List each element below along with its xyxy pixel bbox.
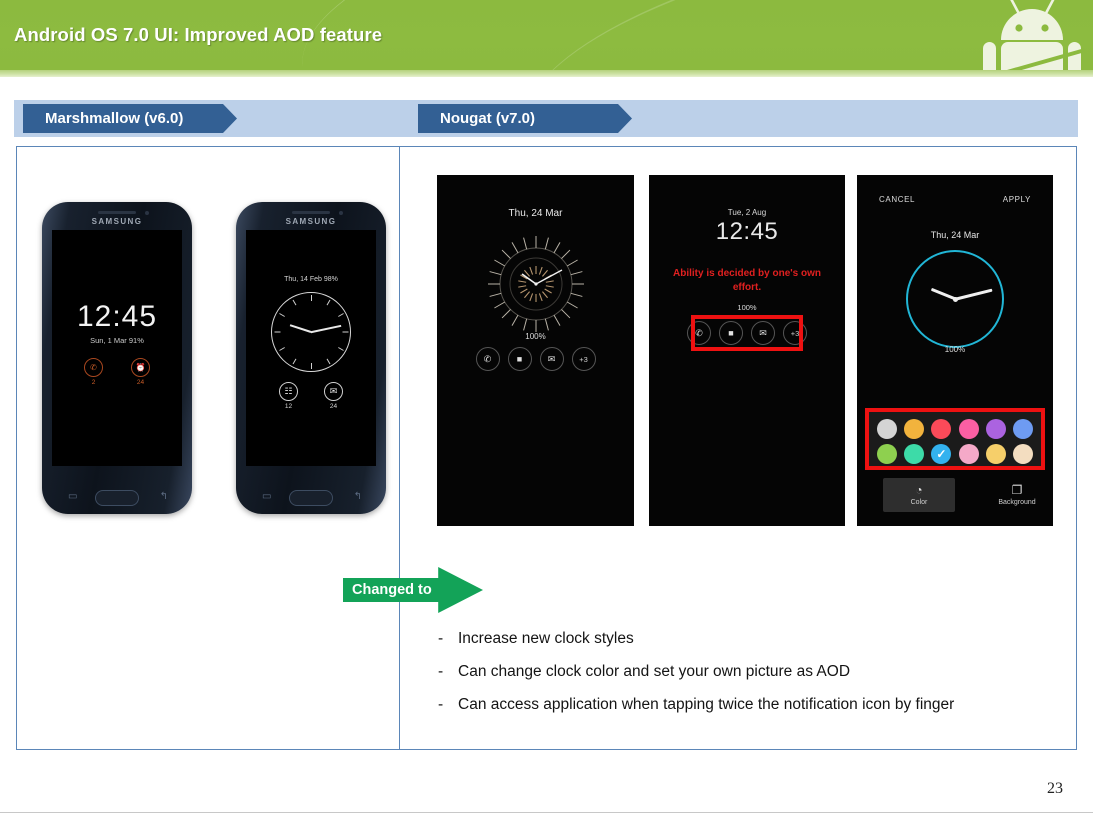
aod-battery-status: 100% [649,303,845,312]
lockscreen-date-battery: Sun, 1 Mar 91% [52,336,182,345]
image-icon: ❐ [981,483,1053,497]
feature-bullet-list: - Increase new clock styles - Can change… [438,630,1058,729]
phone-camera-icon [339,211,343,215]
header-swoosh-decoration [288,0,1093,70]
bullet-dash: - [438,630,458,648]
bullet-item: - Can access application when tapping tw… [438,696,1058,714]
notification-count: 24 [324,403,343,410]
marshmallow-phone-2: SAMSUNG Thu, 14 Feb 98% ☷ 12 ✉ [236,202,386,514]
alarm-icon: ⏰ [131,358,150,377]
lockscreen-notifications: ✆ 2 ⏰ 24 [52,358,182,386]
phone-1-screen: 12:45 Sun, 1 Mar 91% ✆ 2 ⏰ 24 [52,230,182,466]
color-swatch-selected[interactable]: ✓ [931,444,951,464]
marshmallow-phone-1: SAMSUNG 12:45 Sun, 1 Mar 91% ✆ 2 ⏰ 24 ▭ … [42,202,192,514]
analog-clock-icon [271,292,351,372]
color-swatch-row-1 [877,419,1033,439]
clock-minute-hand [311,325,342,333]
tab-marshmallow-label: Marshmallow (v6.0) [45,110,183,127]
aod-battery-status: 100% [437,332,634,341]
bullet-dash: - [438,663,458,681]
bullet-text: Can change clock color and set your own … [458,663,850,681]
color-swatch[interactable] [1013,419,1033,439]
tab-marshmallow[interactable]: Marshmallow (v6.0) [23,104,237,133]
changed-to-label: Changed to [352,582,432,598]
footer-divider [0,812,1093,813]
bullet-text: Increase new clock styles [458,630,634,648]
slide-header: Android OS 7.0 UI: Improved AOD feature [0,0,1093,70]
home-button[interactable] [95,490,139,506]
notification-missed-call[interactable]: ✆ 2 [84,358,103,386]
recents-nav-icon: ▭ [262,491,271,502]
people-icon: ☷ [279,382,298,401]
back-nav-icon: ↰ [160,491,168,502]
clock-hour-hand [930,288,955,301]
color-swatch[interactable] [877,444,897,464]
missed-call-icon: ✆ [84,358,103,377]
clock-minute-hand [955,289,992,301]
phone-speaker [98,211,136,214]
lockscreen-notifications: ☷ 12 ✉ 24 [246,382,376,410]
notification-count: 12 [279,403,298,410]
aod-battery-status: 100% [857,345,1053,354]
clock-hour-hand [290,324,312,333]
ornate-clock-icon [482,230,590,338]
missed-call-icon[interactable]: ✆ [476,347,500,371]
email-icon[interactable]: ✉ [540,347,564,371]
color-swatch[interactable] [931,419,951,439]
bullet-dash: - [438,696,458,714]
clock-center-pin [953,297,958,302]
notification-people[interactable]: ☷ 12 [279,382,298,410]
aod-editor-tabs: ◔ Color ❐ Background [857,478,1053,512]
message-icon[interactable]: ■ [508,347,532,371]
notification-message[interactable]: ✉ 24 [324,382,343,410]
message-icon: ✉ [324,382,343,401]
color-swatch[interactable] [959,419,979,439]
phone-camera-icon [145,211,149,215]
recents-nav-icon: ▭ [68,491,77,502]
cancel-button[interactable]: CANCEL [879,195,915,204]
tab-color-label: Color [911,499,928,506]
notification-count: 24 [131,379,150,386]
column-divider [399,146,400,750]
page-title: Android OS 7.0 UI: Improved AOD feature [14,24,382,46]
back-nav-icon: ↰ [354,491,362,502]
notification-alarm[interactable]: ⏰ 24 [131,358,150,386]
apply-button[interactable]: APPLY [1003,195,1031,204]
color-swatch[interactable] [877,419,897,439]
aod-date: Tue, 2 Aug [649,208,845,217]
color-swatch[interactable] [904,444,924,464]
nougat-aod-screen-1: Thu, 24 Mar [437,175,634,526]
tab-color[interactable]: ◔ Color [883,478,955,512]
notification-count: 2 [84,379,103,386]
tab-nougat[interactable]: Nougat (v7.0) [418,104,632,133]
aod-time: 12:45 [649,218,845,246]
nougat-aod-screen-2: Tue, 2 Aug 12:45 Ability is decided by o… [649,175,845,526]
tab-background-label: Background [998,499,1035,506]
notification-row-highlight-box [691,315,803,351]
home-button[interactable] [289,490,333,506]
aod-date: Thu, 24 Mar [857,230,1053,240]
color-swatch[interactable] [959,444,979,464]
phone-2-screen: Thu, 14 Feb 98% ☷ 12 ✉ 24 [246,230,376,466]
color-swatch[interactable] [904,419,924,439]
cyan-ring-clock-icon [906,250,1004,348]
color-swatch[interactable] [986,419,1006,439]
phone-brand-label: SAMSUNG [42,217,192,226]
check-icon: ✓ [931,444,951,464]
android-robot-icon [977,0,1087,70]
aod-date: Thu, 24 Mar [437,208,634,219]
aod-quote-text: Ability is decided by one's own effort. [659,267,835,295]
bullet-item: - Increase new clock styles [438,630,1058,648]
tab-band: Marshmallow (v6.0) Nougat (v7.0) [14,100,1078,137]
color-palette-icon: ◔ [883,483,955,497]
tab-nougat-label: Nougat (v7.0) [440,110,535,127]
lockscreen-time: 12:45 [52,300,182,334]
bullet-item: - Can change clock color and set your ow… [438,663,1058,681]
more-notifications-icon[interactable]: +3 [572,347,596,371]
color-swatch-row-2: ✓ [877,444,1033,464]
page-number: 23 [1047,780,1063,798]
phone-speaker [292,211,330,214]
tab-background[interactable]: ❐ Background [981,478,1053,512]
nougat-aod-screen-3: CANCEL APPLY Thu, 24 Mar 100% ✓ [857,175,1053,526]
aod-notification-row: ✆ ■ ✉ +3 [437,347,634,371]
lockscreen-date-battery: Thu, 14 Feb 98% [246,276,376,283]
phone-brand-label: SAMSUNG [236,217,386,226]
bullet-text: Can access application when tapping twic… [458,696,954,714]
color-swatch[interactable] [986,444,1006,464]
color-palette-highlight-box: ✓ [865,408,1045,470]
header-underline [0,70,1093,77]
color-swatch[interactable] [1013,444,1033,464]
